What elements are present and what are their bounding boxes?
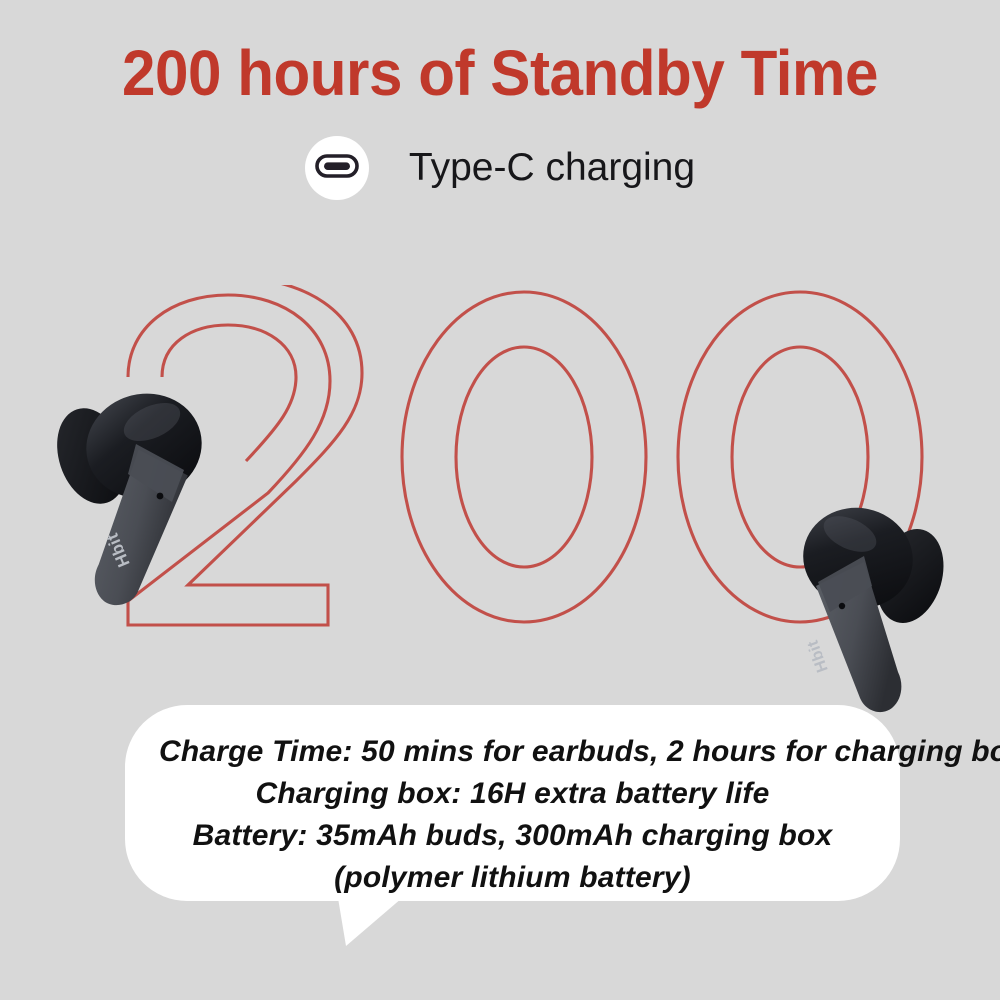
spec-line-charging-box: Charging box: 16H extra battery life: [159, 773, 866, 815]
typec-badge: [305, 136, 369, 200]
spec-line-charge-time: Charge Time: 50 mins for earbuds, 2 hour…: [159, 731, 866, 773]
spec-bubble: Charge Time: 50 mins for earbuds, 2 hour…: [125, 705, 900, 901]
brand-text-right: Hbit: [804, 637, 831, 674]
earbud-left: Hbit: [44, 378, 244, 628]
typec-label: Type-C charging: [409, 146, 695, 190]
earbud-right: Hbit: [762, 492, 952, 727]
spec-bubble-tail: [338, 898, 402, 948]
page-title: 200 hours of Standby Time: [30, 36, 970, 110]
spec-line-battery: Battery: 35mAh buds, 300mAh charging box…: [159, 815, 866, 899]
usb-type-c-port-icon: [315, 154, 359, 183]
typec-feature-row: Type-C charging: [0, 136, 1000, 200]
product-feature-banner: 200 hours of Standby Time Type-C chargin…: [0, 0, 1000, 1000]
